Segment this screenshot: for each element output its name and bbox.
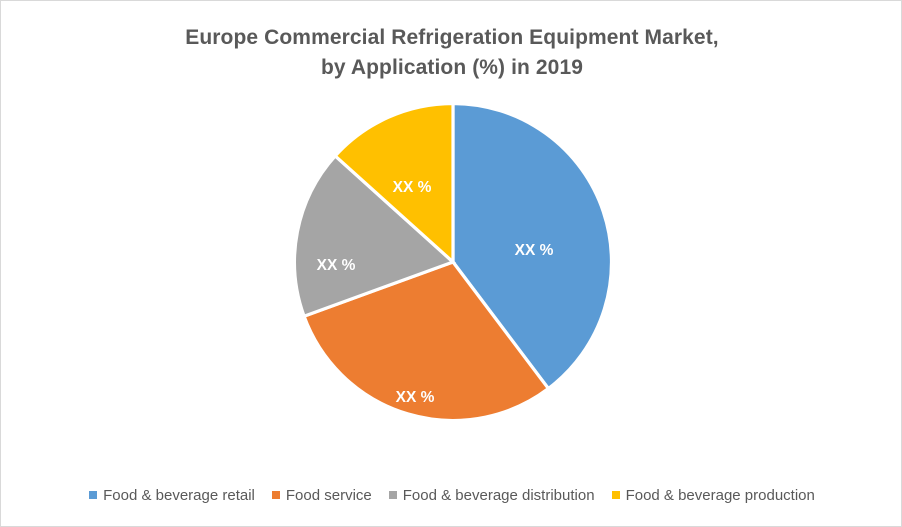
legend-item[interactable]: Food service [272,487,372,504]
chart-legend: Food & beverage retailFood serviceFood &… [1,484,902,506]
pie-slice-data-label: XX % [393,179,432,197]
pie-plot-area: XX %XX %XX %XX % [1,101,902,466]
pie-slice-data-label: XX % [317,257,356,275]
legend-color-swatch-icon [612,491,620,499]
legend-item-label: Food & beverage retail [103,487,255,504]
pie-chart-figure: Europe Commercial Refrigeration Equipmen… [0,0,902,527]
chart-title-line-1: Europe Commercial Refrigeration Equipmen… [1,23,902,53]
legend-item-label: Food & beverage distribution [403,487,595,504]
legend-item[interactable]: Food & beverage retail [89,487,255,504]
legend-item[interactable]: Food & beverage production [612,487,815,504]
legend-item-label: Food & beverage production [626,487,815,504]
legend-item-label: Food service [286,487,372,504]
legend-color-swatch-icon [272,491,280,499]
legend-color-swatch-icon [89,491,97,499]
pie-slice-data-label: XX % [396,389,435,407]
legend-item[interactable]: Food & beverage distribution [389,487,595,504]
chart-title: Europe Commercial Refrigeration Equipmen… [1,23,902,83]
legend-color-swatch-icon [389,491,397,499]
pie-slice-data-label: XX % [515,242,554,260]
chart-title-line-2: by Application (%) in 2019 [1,53,902,83]
